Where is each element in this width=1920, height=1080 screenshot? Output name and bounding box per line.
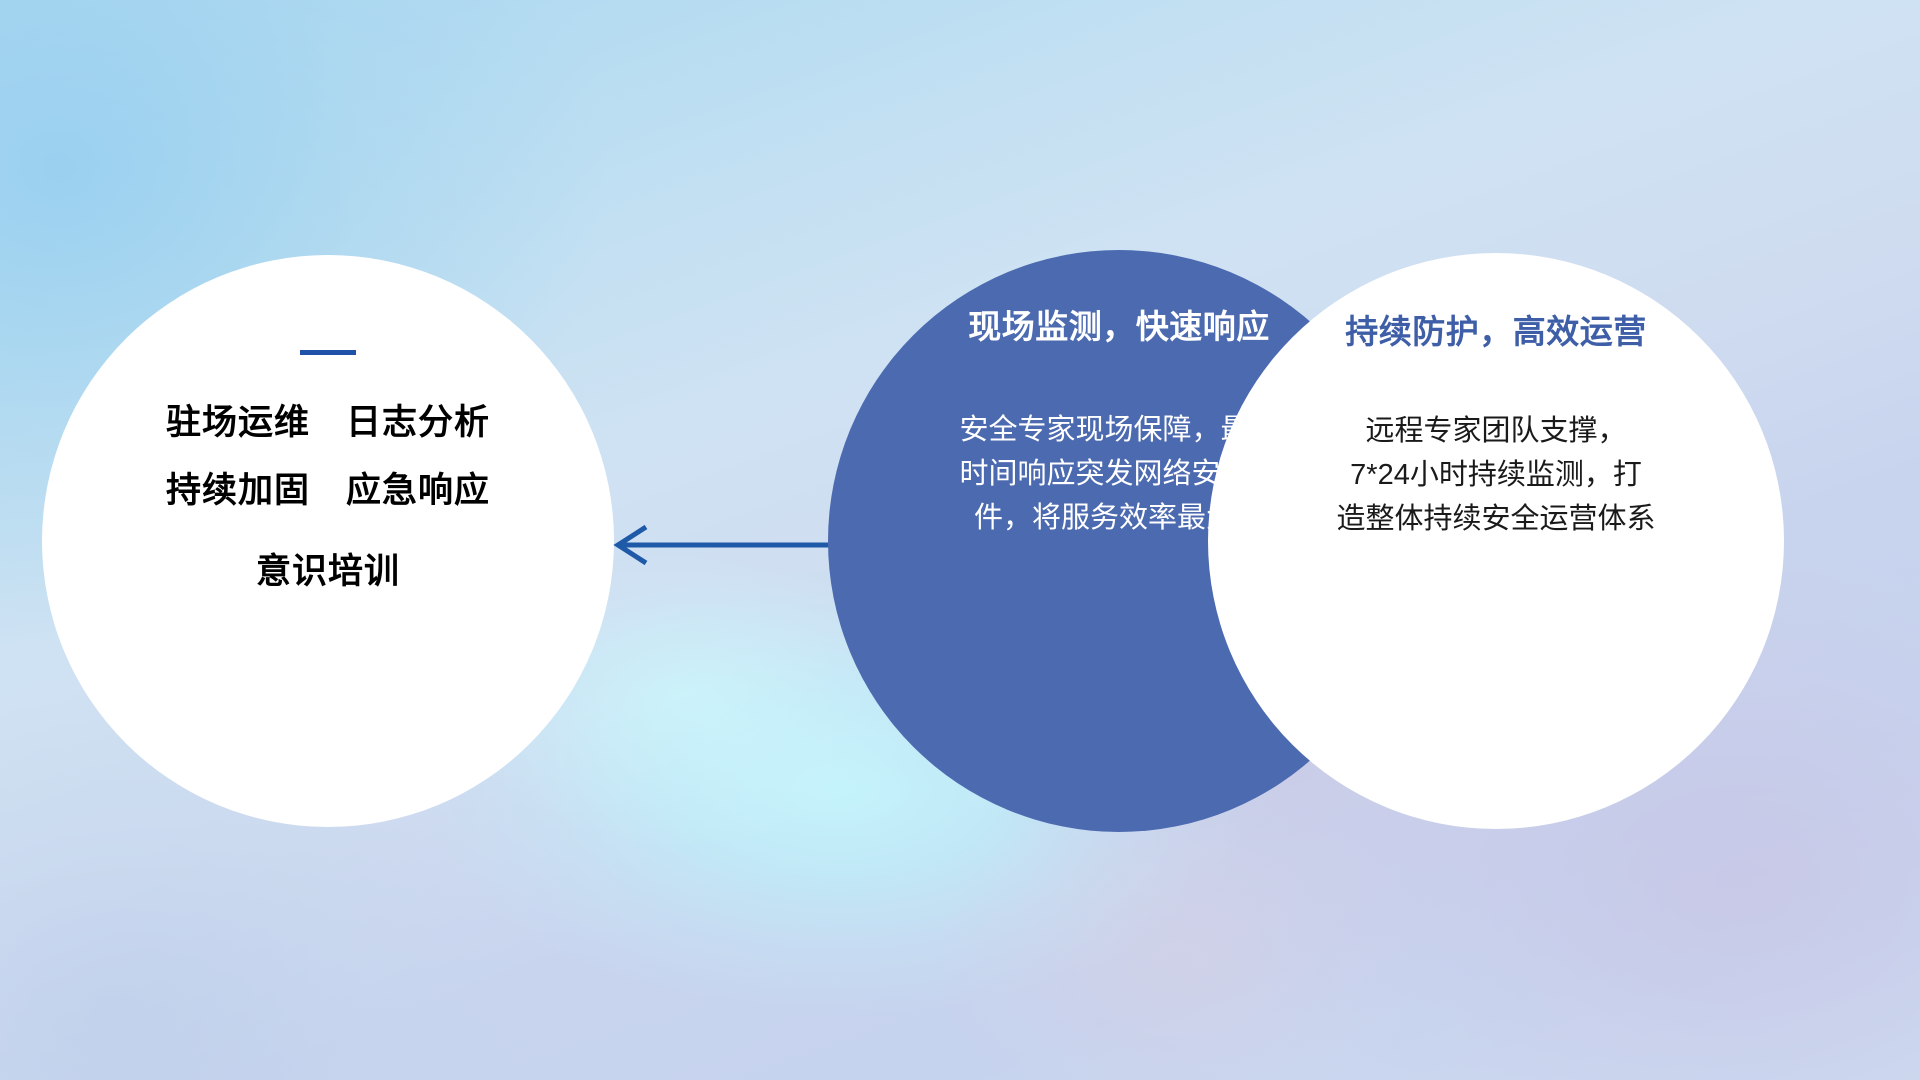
continuous-protection-heading: 持续防护，高效运营 xyxy=(1345,305,1647,353)
accent-dash-icon xyxy=(300,350,356,355)
slide-canvas: 驻场运维 日志分析 持续加固 应急响应 意识培训 现场监测，快速响应 安全专家现… xyxy=(0,0,1920,1080)
keyword-line-1: 驻场运维 日志分析 xyxy=(166,403,490,444)
continuous-protection-circle: 持续防护，高效运营 远程专家团队支撑，7*24小时持续监测，打造整体持续安全运营… xyxy=(1208,253,1784,829)
capability-keywords-circle: 驻场运维 日志分析 持续加固 应急响应 意识培训 xyxy=(42,255,614,827)
continuous-protection-body: 远程专家团队支撑，7*24小时持续监测，打造整体持续安全运营体系 xyxy=(1336,409,1656,541)
capability-keywords-content: 驻场运维 日志分析 持续加固 应急响应 意识培训 xyxy=(42,255,614,827)
keyword-line-2: 持续加固 应急响应 xyxy=(166,471,490,512)
keyword-line-3: 意识培训 xyxy=(256,552,400,593)
continuous-protection-content: 持续防护，高效运营 远程专家团队支撑，7*24小时持续监测，打造整体持续安全运营… xyxy=(1208,253,1784,829)
